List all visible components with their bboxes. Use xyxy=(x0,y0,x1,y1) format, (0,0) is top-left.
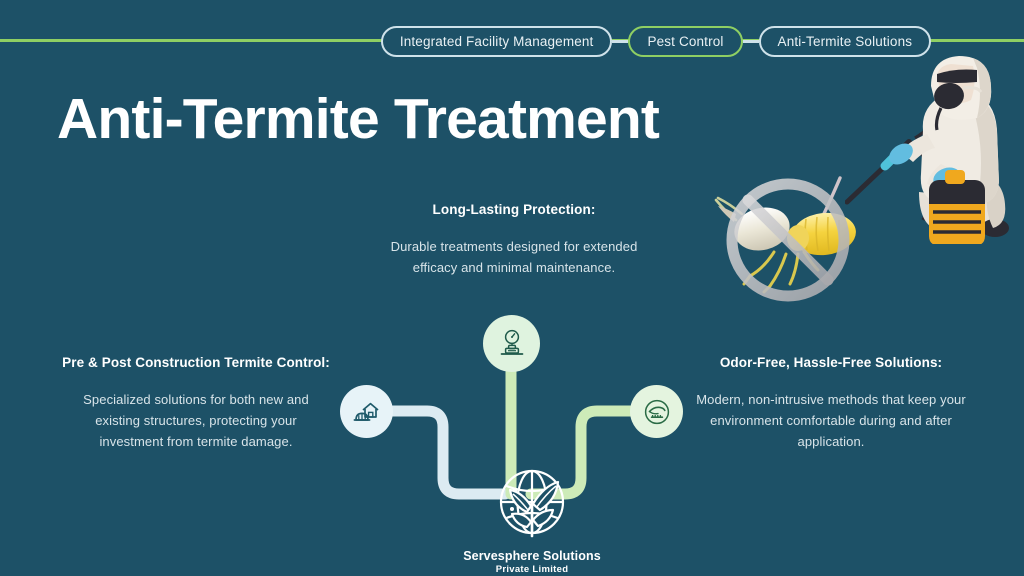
feature-heading: Pre & Post Construction Termite Control: xyxy=(62,353,330,373)
hand-care-eco-icon xyxy=(641,396,673,428)
feature-heading: Long-Lasting Protection: xyxy=(372,200,656,220)
gauge-meter-icon xyxy=(495,327,529,361)
feature-heading: Odor-Free, Hassle-Free Solutions: xyxy=(690,353,972,373)
feature-block-pre-post-construction: Pre & Post Construction Termite Control:… xyxy=(62,353,330,452)
pest-control-worker-spraying xyxy=(845,52,1024,244)
feature-node-right[interactable] xyxy=(630,385,683,438)
feature-block-odor-free: Odor-Free, Hassle-Free Solutions: Modern… xyxy=(690,353,972,452)
house-hardhat-icon xyxy=(351,396,383,428)
globe-leaves-icon xyxy=(488,462,576,548)
feature-node-top[interactable] xyxy=(483,315,540,372)
company-logo: Servesphere Solutions Private Limited xyxy=(452,462,612,575)
company-subtitle: Private Limited xyxy=(452,564,612,575)
company-name: Servesphere Solutions xyxy=(452,549,612,563)
feature-body: Durable treatments designed for extended… xyxy=(372,236,656,278)
feature-node-left[interactable] xyxy=(340,385,393,438)
feature-body: Modern, non-intrusive methods that keep … xyxy=(690,389,972,452)
feature-body: Specialized solutions for both new and e… xyxy=(62,389,330,452)
feature-block-long-lasting-protection: Long-Lasting Protection: Durable treatme… xyxy=(372,200,656,278)
